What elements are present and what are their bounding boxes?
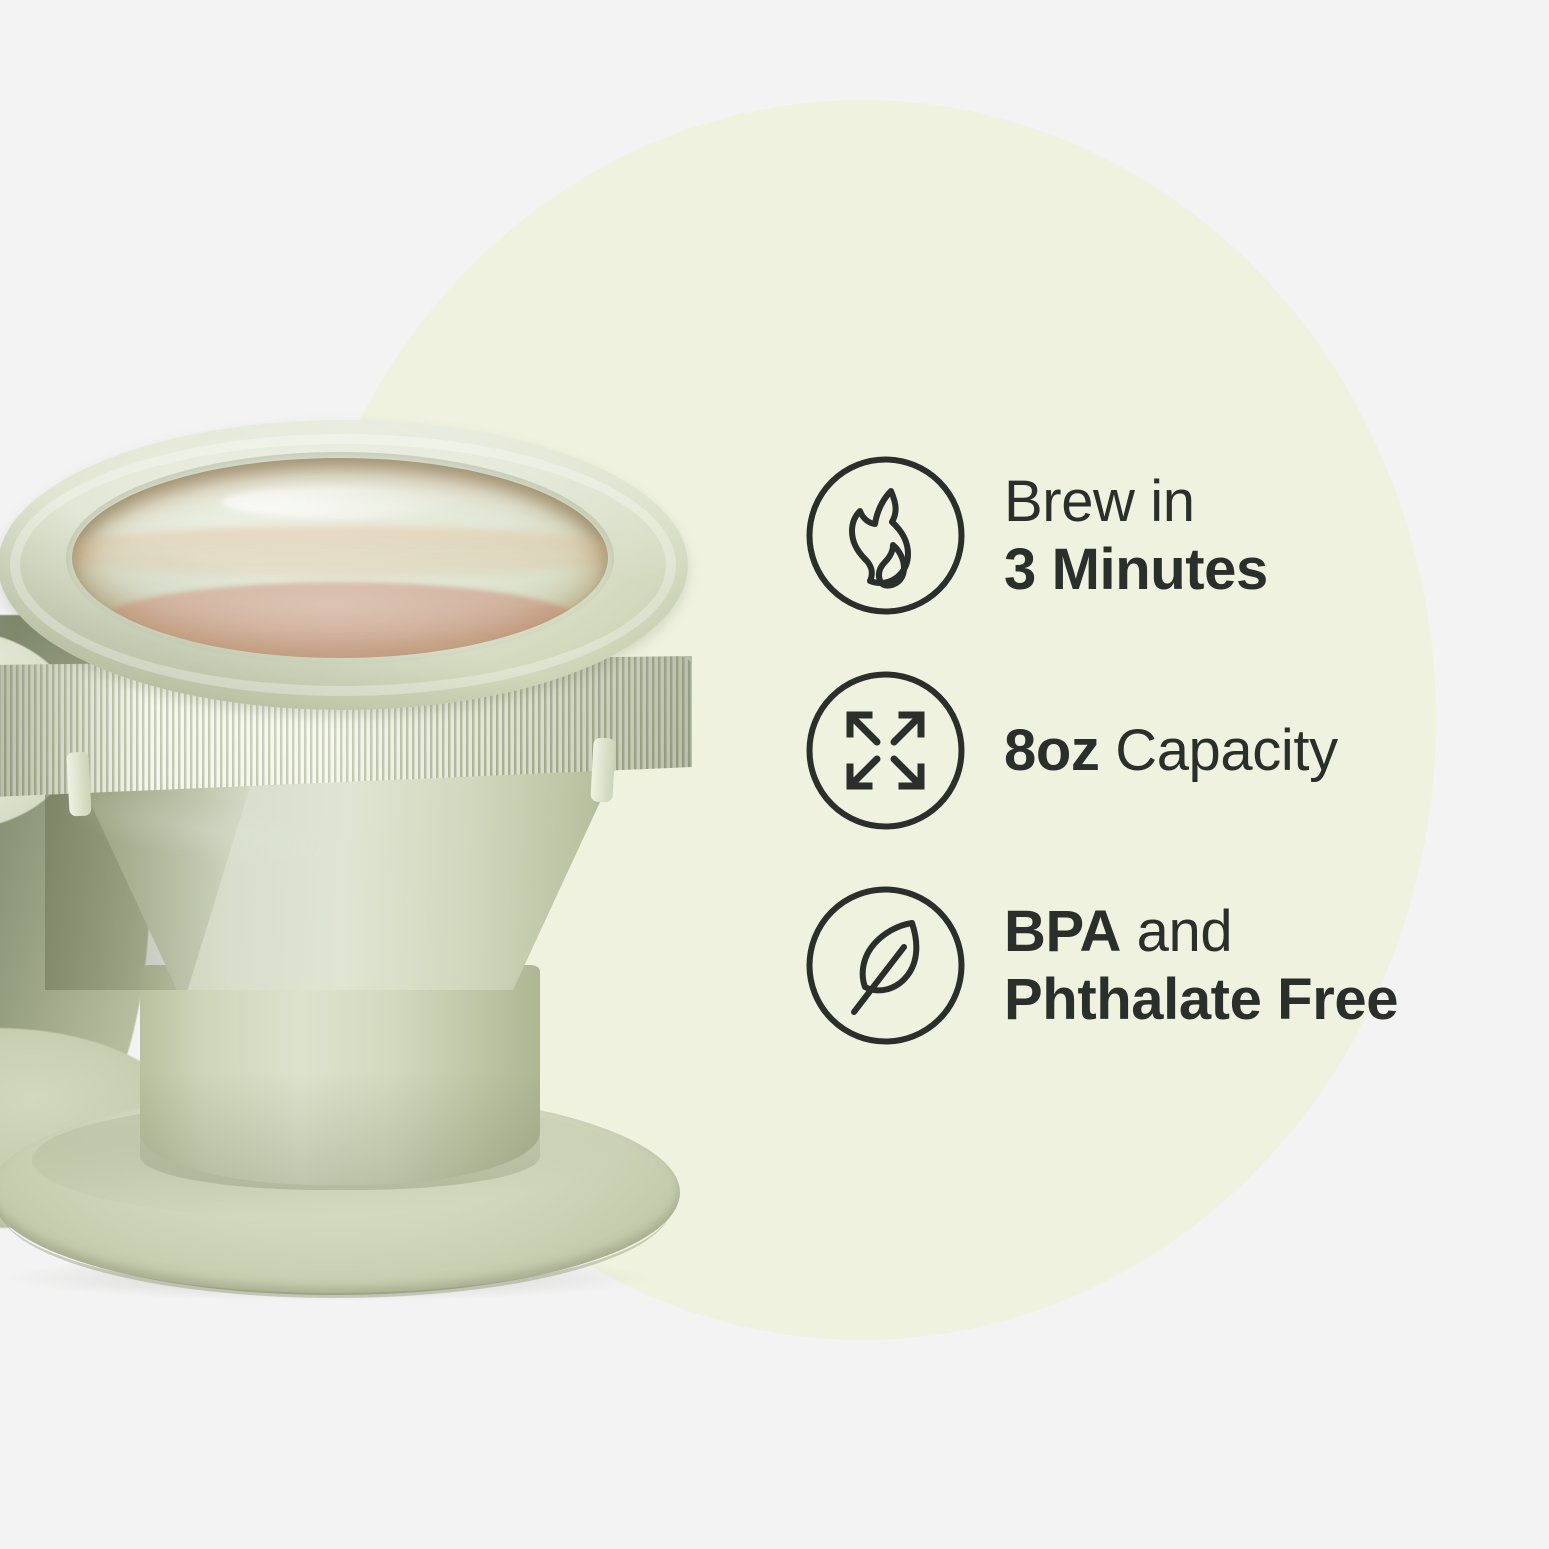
feature-text-materials: BPA and Phthalate Free (1004, 898, 1398, 1033)
feature-list: Brew in 3 Minutes (805, 455, 1545, 1046)
feature-row-materials: BPA and Phthalate Free (805, 885, 1545, 1046)
feature-label-line1: Brew in (1004, 469, 1195, 534)
coffee-surface (72, 458, 608, 658)
feature-label-line2: 3 Minutes (1004, 536, 1268, 603)
leaf-icon (805, 885, 966, 1046)
feature-text-capacity: 8oz Capacity (1004, 717, 1338, 784)
coffee-edge-shadow (72, 458, 608, 658)
product-feature-graphic: Brew in 3 Minutes (0, 0, 1549, 1549)
feature-text-brew-time: Brew in 3 Minutes (1004, 468, 1268, 603)
collar-tab-right (590, 737, 615, 802)
feature-label-line1: BPA (1004, 899, 1121, 964)
feature-label-line1-suffix: Capacity (1100, 718, 1338, 783)
feature-row-capacity: 8oz Capacity (805, 670, 1545, 831)
expand-arrows-icon (805, 670, 966, 831)
flame-icon (805, 455, 966, 616)
feature-label-line1: 8oz (1004, 718, 1100, 783)
feature-label-line1-suffix: and (1121, 899, 1232, 964)
feature-row-brew-time: Brew in 3 Minutes (805, 455, 1545, 616)
product-image (0, 400, 800, 1300)
collar-tab-left (66, 751, 91, 816)
feature-label-line2: Phthalate Free (1004, 966, 1398, 1033)
lower-cylinder-shading (140, 1070, 540, 1190)
